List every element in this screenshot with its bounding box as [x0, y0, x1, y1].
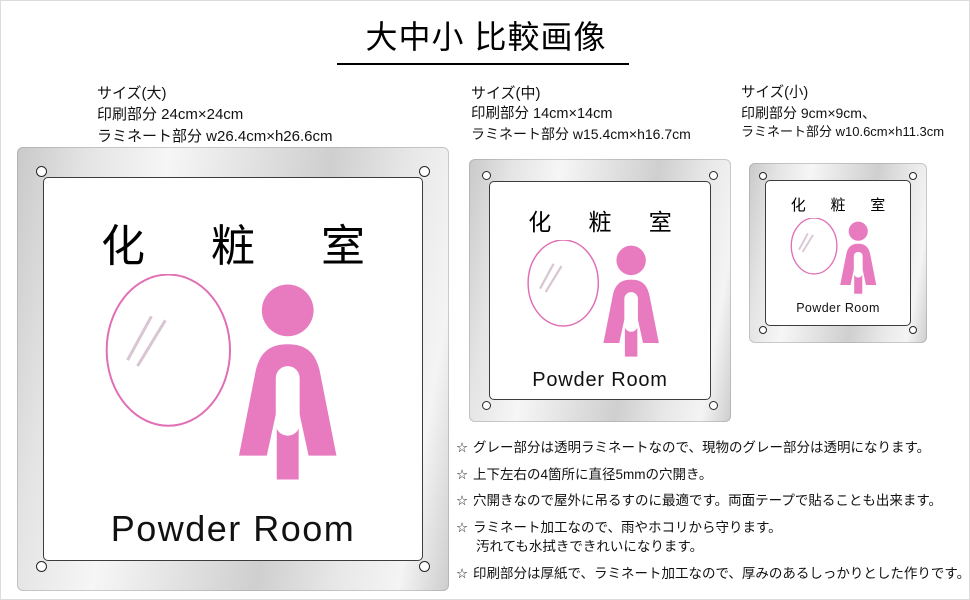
- star-icon: ☆: [456, 438, 473, 458]
- note-item: ☆ グレー部分は透明ラミネートなので、現物のグレー部分は透明になります。: [456, 438, 966, 458]
- sign-english-large: Powder Room: [44, 508, 422, 550]
- sign-plaque-medium: 化 粧 室 Powder Room: [469, 159, 731, 422]
- spec-label-large: サイズ(大): [97, 83, 332, 104]
- sign-artwork-small: [766, 218, 910, 296]
- spec-print-large: 印刷部分 24cm×24cm: [97, 104, 332, 125]
- oval-mirror-icon: [528, 240, 598, 326]
- note-item: ☆ 印刷部分は厚紙で、ラミネート加工なので、厚みのあるしっかりとした作りです。: [456, 564, 966, 584]
- mounting-hole-icon: [709, 171, 718, 180]
- sign-english-medium: Powder Room: [490, 369, 710, 392]
- sign-plaque-small: 化 粧 室 Powder Room: [749, 163, 927, 343]
- notes-list: ☆ グレー部分は透明ラミネートなので、現物のグレー部分は透明になります。 ☆ 上…: [456, 438, 966, 590]
- spec-laminate-medium: ラミネート部分 w15.4cm×h16.7cm: [471, 125, 691, 145]
- star-icon: ☆: [456, 518, 473, 538]
- star-icon: ☆: [456, 491, 473, 511]
- mounting-hole-icon: [36, 561, 47, 572]
- sign-plaque-large: 化 粧 室 Powder Room: [17, 147, 449, 591]
- spec-label-small: サイズ(小): [741, 83, 944, 104]
- sign-artwork-large: [44, 274, 422, 486]
- sign-kanji-medium: 化 粧 室: [490, 203, 710, 237]
- spec-print-small: 印刷部分 9cm×9cm、: [741, 104, 944, 124]
- mounting-hole-icon: [909, 326, 917, 334]
- sign-kanji-large: 化 粧 室: [44, 210, 422, 274]
- mounting-hole-icon: [759, 172, 767, 180]
- sign-face-medium: 化 粧 室 Powder Room: [489, 181, 711, 400]
- note-text: グレー部分は透明ラミネートなので、現物のグレー部分は透明になります。: [473, 438, 966, 458]
- sign-english-small: Powder Room: [766, 301, 910, 315]
- sign-artwork-medium: [490, 240, 710, 360]
- mounting-hole-icon: [419, 166, 430, 177]
- sign-face-large: 化 粧 室 Powder Room: [43, 177, 423, 561]
- star-icon: ☆: [456, 465, 473, 485]
- spec-label-medium: サイズ(中): [471, 83, 691, 104]
- sign-face-small: 化 粧 室 Powder Room: [765, 180, 911, 326]
- note-text: ラミネート加工なので、雨やホコリから守ります。: [473, 520, 782, 535]
- spec-laminate-large: ラミネート部分 w26.4cm×h26.6cm: [97, 126, 332, 147]
- mounting-hole-icon: [482, 171, 491, 180]
- mounting-hole-icon: [759, 326, 767, 334]
- star-icon: ☆: [456, 564, 473, 584]
- female-figure-icon: [840, 222, 876, 294]
- spec-laminate-small: ラミネート部分 w10.6cm×h11.3cm: [741, 123, 944, 141]
- mounting-hole-icon: [709, 401, 718, 410]
- spec-block-small: サイズ(小) 印刷部分 9cm×9cm、 ラミネート部分 w10.6cm×h11…: [741, 83, 944, 142]
- mounting-hole-icon: [482, 401, 491, 410]
- note-text-group: ラミネート加工なので、雨やホコリから守ります。 汚れても水拭きできれいになります…: [473, 518, 966, 557]
- oval-mirror-icon: [107, 275, 230, 426]
- note-text: 穴開きなので屋外に吊るすのに最適です。両面テープで貼ることも出来ます。: [473, 491, 966, 511]
- spec-block-medium: サイズ(中) 印刷部分 14cm×14cm ラミネート部分 w15.4cm×h1…: [471, 83, 691, 145]
- comparison-image-canvas: 大中小 比較画像 サイズ(大) 印刷部分 24cm×24cm ラミネート部分 w…: [0, 0, 970, 600]
- sign-kanji-small: 化 粧 室: [766, 194, 910, 215]
- note-item: ☆ ラミネート加工なので、雨やホコリから守ります。 汚れても水拭きできれいになり…: [456, 518, 966, 557]
- female-figure-icon: [239, 285, 336, 480]
- note-subtext: 汚れても水拭きできれいになります。: [473, 537, 966, 557]
- mounting-hole-icon: [909, 172, 917, 180]
- note-text: 上下左右の4箇所に直径5mmの穴開き。: [473, 465, 966, 485]
- page-title: 大中小 比較画像: [1, 19, 970, 56]
- mounting-hole-icon: [419, 561, 430, 572]
- note-item: ☆ 穴開きなので屋外に吊るすのに最適です。両面テープで貼ることも出来ます。: [456, 491, 966, 511]
- spec-print-medium: 印刷部分 14cm×14cm: [471, 104, 691, 125]
- note-text: 印刷部分は厚紙で、ラミネート加工なので、厚みのあるしっかりとした作りです。: [473, 564, 970, 584]
- mounting-hole-icon: [36, 166, 47, 177]
- spec-block-large: サイズ(大) 印刷部分 24cm×24cm ラミネート部分 w26.4cm×h2…: [97, 83, 332, 147]
- oval-mirror-icon: [791, 218, 837, 274]
- female-figure-icon: [603, 246, 658, 357]
- title-underline: [337, 63, 629, 65]
- note-item: ☆ 上下左右の4箇所に直径5mmの穴開き。: [456, 465, 966, 485]
